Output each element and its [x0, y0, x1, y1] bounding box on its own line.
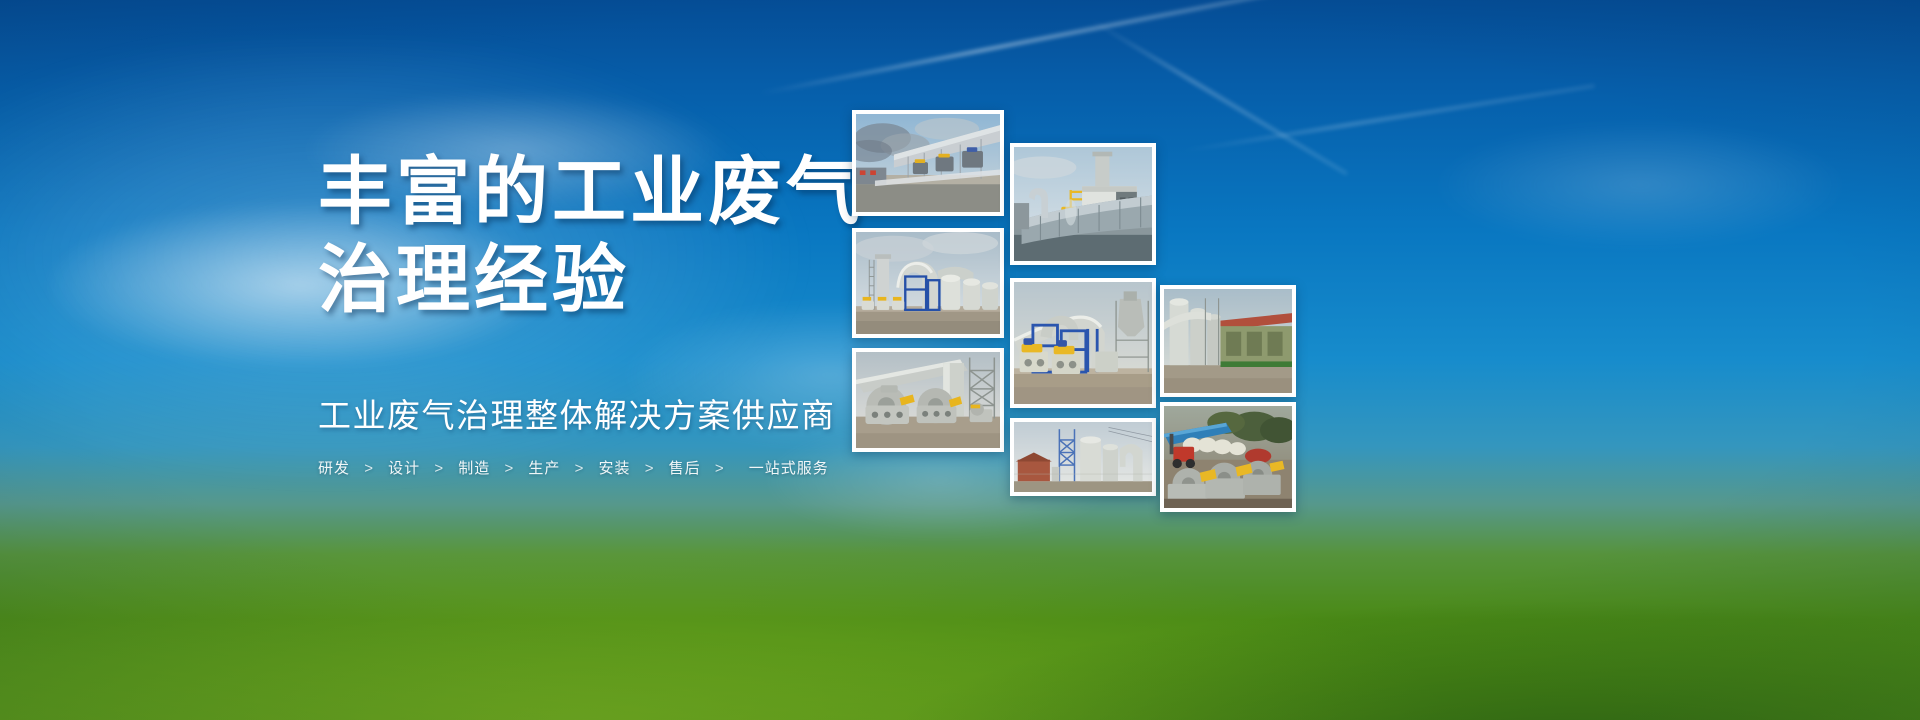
photo-scrubber-tower-array — [856, 232, 1000, 334]
collage-photo-fan-units-yard-storage[interactable] — [1160, 402, 1296, 512]
collage-photo-blue-frame-duct-system[interactable] — [1010, 278, 1156, 408]
photo-blue-frame-duct-system — [1014, 282, 1152, 404]
photo-fan-units-yard-storage — [1164, 406, 1292, 508]
collage-photo-rotary-kiln-exhaust-ducting[interactable] — [852, 110, 1004, 216]
photo-centrifugal-fan-row — [856, 352, 1000, 448]
collage-photo-workshop-dust-collector[interactable] — [1160, 285, 1296, 397]
collage-photo-tall-stack-plant[interactable] — [1010, 418, 1156, 496]
photo-rotary-kiln-exhaust-ducting — [856, 114, 1000, 212]
photo-tall-stack-plant — [1014, 422, 1152, 492]
collage-photo-rto-incinerator-pipeline[interactable] — [1010, 143, 1156, 265]
collage-photo-scrubber-tower-array[interactable] — [852, 228, 1004, 338]
photo-workshop-dust-collector — [1164, 289, 1292, 393]
photo-collage — [0, 0, 1920, 720]
photo-rto-incinerator-pipeline — [1014, 147, 1152, 261]
hero-banner: 丰富的工业废气 治理经验 工业废气治理整体解决方案供应商 研发 > 设计 > 制… — [0, 0, 1920, 720]
collage-photo-centrifugal-fan-row[interactable] — [852, 348, 1004, 452]
